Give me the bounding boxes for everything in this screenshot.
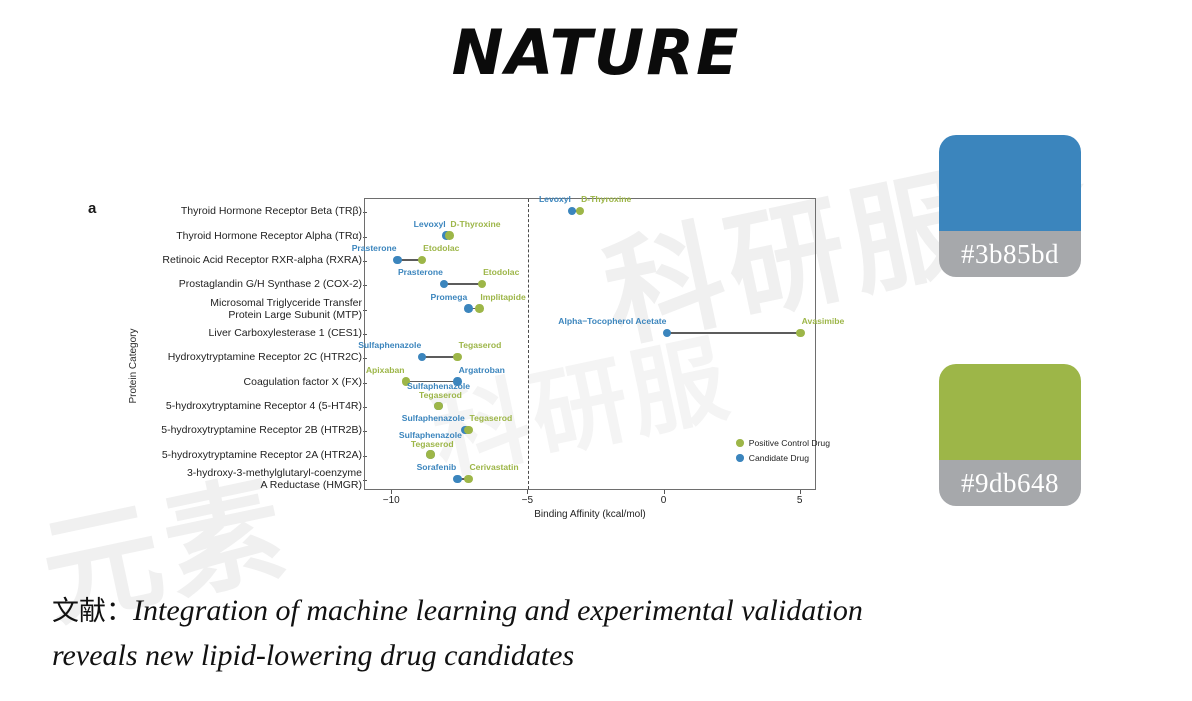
category-label-line: Retinoic Acid Receptor RXR-alpha (RXRA): [140, 255, 362, 267]
data-point[interactable]: [576, 207, 585, 216]
data-point[interactable]: [478, 280, 487, 289]
data-point-label: Prasterone: [352, 244, 397, 254]
data-point-label: Prasterone: [398, 268, 443, 278]
data-point[interactable]: [434, 402, 443, 411]
legend-item[interactable]: Positive Control Drug: [736, 438, 830, 448]
x-axis-tick: [391, 490, 392, 494]
category-label-line: 5-hydroxytryptamine Receptor 2A (HTR2A): [140, 450, 362, 462]
data-point[interactable]: [453, 353, 462, 362]
data-point-label: Avasimibe: [802, 317, 845, 327]
category-label-line: Hydroxytryptamine Receptor 2C (HTR2C): [140, 352, 362, 364]
color-swatch-green: #9db648: [939, 364, 1081, 506]
legend-color-dot: [736, 439, 744, 447]
data-point-label: Promega: [430, 293, 467, 303]
data-point[interactable]: [464, 426, 473, 435]
category-label: Microsomal Triglyceride TransferProtein …: [140, 298, 362, 321]
category-label-line: 5-hydroxytryptamine Receptor 4 (5-HT4R): [140, 401, 362, 413]
color-swatch-green-fill: [939, 364, 1081, 460]
dumbbell-connector: [667, 332, 800, 334]
category-label: 3-hydroxy-3-methylglutaryl-coenzymeA Red…: [140, 468, 362, 491]
data-point-label: Cerivastatin: [469, 463, 518, 473]
category-axis-labels: Thyroid Hormone Receptor Beta (TRβ)Thyro…: [140, 200, 362, 490]
source-caption: 文献：Integration of machine learning and e…: [52, 589, 952, 678]
panel-letter: a: [88, 200, 96, 217]
data-point-label: Levoxyl: [414, 220, 446, 230]
data-point-label: Implitapide: [480, 293, 525, 303]
x-axis-tick: [664, 490, 665, 494]
category-label: Liver Carboxylesterase 1 (CES1): [140, 328, 362, 340]
data-point-label: Tegaserod: [411, 440, 454, 450]
data-point[interactable]: [464, 304, 473, 313]
data-point-label: Alpha−Tocopherol Acetate: [558, 317, 666, 327]
dumbbell-connector: [422, 356, 457, 358]
data-point-label: Sorafenib: [417, 463, 457, 473]
source-caption-text: Integration of machine learning and expe…: [52, 594, 863, 672]
data-point-label: Sulfaphenazole: [358, 341, 421, 351]
data-point-label: Tegaserod: [459, 341, 502, 351]
legend-label: Positive Control Drug: [749, 438, 830, 448]
category-label: Thyroid Hormone Receptor Alpha (TRα): [140, 231, 362, 243]
category-label: Thyroid Hormone Receptor Beta (TRβ): [140, 206, 362, 218]
data-point[interactable]: [796, 329, 805, 338]
category-label: 5-hydroxytryptamine Receptor 4 (5-HT4R): [140, 401, 362, 413]
x-axis-tick-label: −10: [383, 495, 400, 506]
chart-legend: Positive Control DrugCandidate Drug: [736, 438, 830, 468]
dumbbell-connector: [444, 283, 482, 285]
legend-label: Candidate Drug: [749, 453, 809, 463]
y-axis-title: Protein Category: [128, 276, 139, 456]
x-axis-tick-label: 0: [661, 495, 667, 506]
data-point-label: Levoxyl: [539, 195, 571, 205]
category-label: 5-hydroxytryptamine Receptor 2A (HTR2A): [140, 450, 362, 462]
x-axis-title: Binding Affinity (kcal/mol): [364, 509, 816, 520]
legend-item[interactable]: Candidate Drug: [736, 453, 830, 463]
category-label-line: Thyroid Hormone Receptor Beta (TRβ): [140, 206, 362, 218]
data-point-label: Argatroban: [459, 366, 505, 376]
data-point-label: Etodolac: [423, 244, 459, 254]
category-label-line: Coagulation factor X (FX): [140, 377, 362, 389]
category-label-line: 5-hydroxytryptamine Receptor 2B (HTR2B): [140, 425, 362, 437]
x-axis-tick: [527, 490, 528, 494]
color-swatch-blue-fill: [939, 135, 1081, 231]
data-point[interactable]: [445, 231, 454, 240]
data-point[interactable]: [568, 207, 577, 216]
data-point[interactable]: [663, 329, 672, 338]
data-point[interactable]: [464, 475, 473, 484]
category-label: Coagulation factor X (FX): [140, 377, 362, 389]
category-label-line: Thyroid Hormone Receptor Alpha (TRα): [140, 231, 362, 243]
x-axis-tick: [800, 490, 801, 494]
reference-line: [528, 199, 529, 489]
data-point[interactable]: [418, 256, 427, 265]
category-label-line: A Reductase (HMGR): [140, 480, 362, 492]
data-point-label: Etodolac: [483, 268, 519, 278]
category-label: 5-hydroxytryptamine Receptor 2B (HTR2B): [140, 425, 362, 437]
category-label-line: Liver Carboxylesterase 1 (CES1): [140, 328, 362, 340]
data-point[interactable]: [453, 475, 462, 484]
figure-panel: a Protein Category Thyroid Hormone Recep…: [84, 188, 836, 528]
data-point-label: Apixaban: [366, 366, 405, 376]
category-label: Prostaglandin G/H Synthase 2 (COX-2): [140, 279, 362, 291]
data-point-label: Tegaserod: [469, 414, 512, 424]
category-label-line: Protein Large Subunit (MTP): [140, 310, 362, 322]
data-point[interactable]: [418, 353, 427, 362]
data-point[interactable]: [440, 280, 449, 289]
data-point-label: D-Thyroxine: [581, 195, 631, 205]
legend-color-dot: [736, 454, 744, 462]
x-axis-tick-label: 5: [797, 495, 803, 506]
x-axis-tick-label: −5: [522, 495, 533, 506]
data-point-label: Sulfaphenazole: [402, 414, 465, 424]
color-swatch-green-label: #9db648: [939, 460, 1081, 506]
data-point-label: D-Thyroxine: [450, 220, 500, 230]
x-axis: Binding Affinity (kcal/mol) −10−505: [364, 490, 816, 524]
color-swatch-blue-label: #3b85bd: [939, 231, 1081, 277]
source-caption-prefix: 文献：: [52, 596, 133, 627]
color-swatch-blue: #3b85bd: [939, 135, 1081, 277]
category-label-line: Prostaglandin G/H Synthase 2 (COX-2): [140, 279, 362, 291]
category-label-line: Microsomal Triglyceride Transfer: [140, 298, 362, 310]
category-label: Retinoic Acid Receptor RXR-alpha (RXRA): [140, 255, 362, 267]
page-title: NATURE: [0, 22, 1192, 84]
data-point[interactable]: [475, 304, 484, 313]
category-label: Hydroxytryptamine Receptor 2C (HTR2C): [140, 352, 362, 364]
data-point[interactable]: [426, 450, 435, 459]
data-point-label: Tegaserod: [419, 391, 462, 401]
data-point[interactable]: [393, 256, 402, 265]
